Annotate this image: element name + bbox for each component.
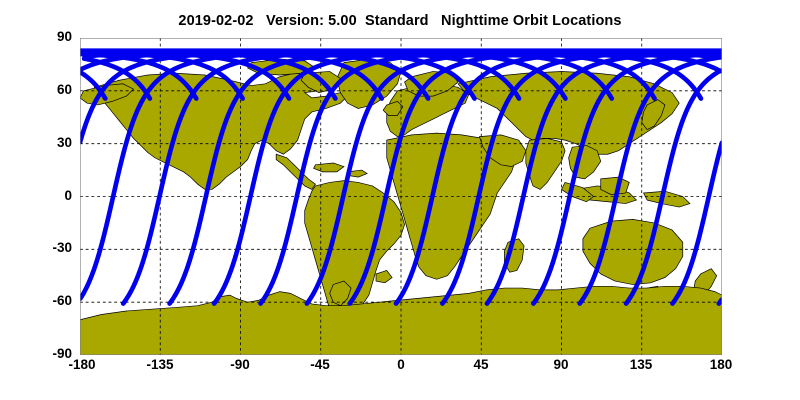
xtick-label--180: -180 bbox=[52, 357, 112, 372]
ytick-label-0: 0 bbox=[28, 188, 72, 203]
chart-page: 2019-02-02 Version: 5.00 Standard Nightt… bbox=[0, 0, 800, 400]
plot-area: 90 60 30 0 -30 -60 -90 -180 -135 -90 -45… bbox=[80, 38, 722, 355]
xtick-label-135: 135 bbox=[611, 357, 671, 372]
xtick-label-180: 180 bbox=[691, 357, 751, 372]
orbit-track bbox=[719, 300, 722, 304]
ytick-label--60: -60 bbox=[28, 293, 72, 308]
world-map-plot bbox=[80, 38, 722, 355]
xtick-label-45: 45 bbox=[451, 357, 511, 372]
ytick-label--30: -30 bbox=[28, 240, 72, 255]
xtick-label--90: -90 bbox=[210, 357, 270, 372]
chart-title: 2019-02-02 Version: 5.00 Standard Nightt… bbox=[0, 13, 800, 29]
xtick-label--45: -45 bbox=[290, 357, 350, 372]
xtick-label-90: 90 bbox=[531, 357, 591, 372]
xtick-label-0: 0 bbox=[371, 357, 431, 372]
xtick-label--135: -135 bbox=[130, 357, 190, 372]
ytick-label-60: 60 bbox=[28, 82, 72, 97]
ytick-label-30: 30 bbox=[28, 135, 72, 150]
ytick-label-90: 90 bbox=[28, 29, 72, 44]
